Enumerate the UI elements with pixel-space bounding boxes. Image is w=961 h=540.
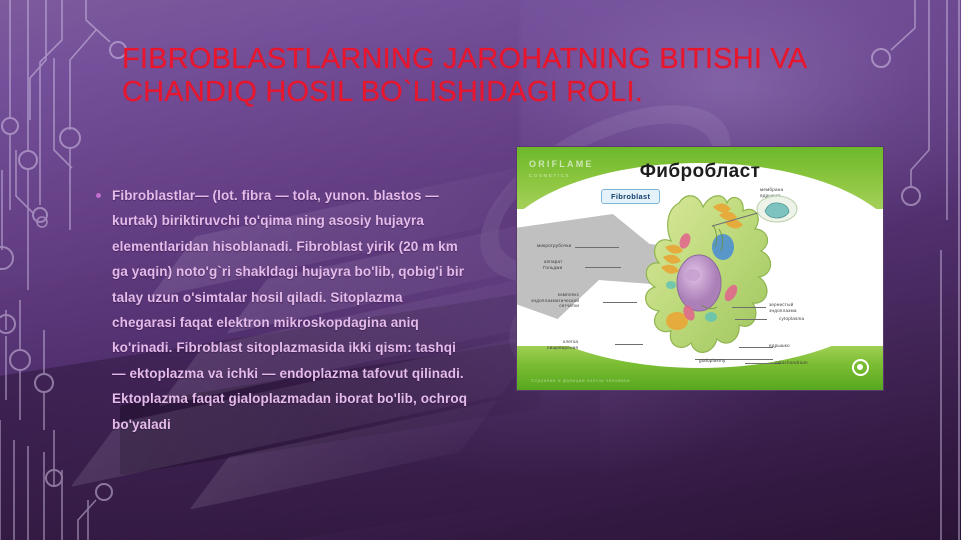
body-content: Fibroblastlar— (lot. fibra — tola, yunon… (96, 183, 468, 437)
fibroblast-diagram-image[interactable]: ORIFLAME COSMETICS Фибробласт Fibroblast (516, 146, 884, 391)
leader-line (585, 267, 621, 268)
leader-line (603, 302, 637, 303)
diagram-label-right: зернистый эндоплазма (769, 302, 797, 313)
bullet-dot-icon (96, 193, 101, 198)
slide-canvas: FIBROBLASTLARNING JAROHATNING BITISHI VA… (0, 0, 961, 540)
diagram-label-right: gialoplasmy (699, 358, 725, 364)
image-footer-note: Строение и функции клеток человека (531, 378, 630, 383)
diagram-label-right: mitochondrium (775, 360, 808, 366)
diagram-label-right: ядрышко (769, 343, 790, 349)
nucleolus-inset-icon (755, 193, 799, 225)
leader-line (739, 347, 773, 348)
slide-title: FIBROBLASTLARNING JAROHATNING BITISHI VA… (122, 43, 912, 109)
diagram-heading: Фибробласт (517, 161, 883, 183)
leader-line (735, 319, 767, 320)
diagram-label-left: клетка пищеварения (547, 339, 578, 350)
diagram-label-left: микротрубочки (537, 243, 571, 249)
diagram-label-left: комплекс эндоплазматической сетчатки (531, 292, 579, 309)
leader-line (732, 307, 766, 308)
leader-line (575, 247, 619, 248)
leader-line (615, 344, 643, 345)
diagram-label-right: cytoplasma (779, 316, 804, 322)
bullet-paragraph: Fibroblastlar— (lot. fibra — tola, yunon… (112, 183, 468, 437)
bullet-item: Fibroblastlar— (lot. fibra — tola, yunon… (96, 183, 468, 437)
oriflame-circle-logo-icon (852, 359, 869, 376)
diagram-label-left: аппарат Гольджи (543, 259, 562, 270)
